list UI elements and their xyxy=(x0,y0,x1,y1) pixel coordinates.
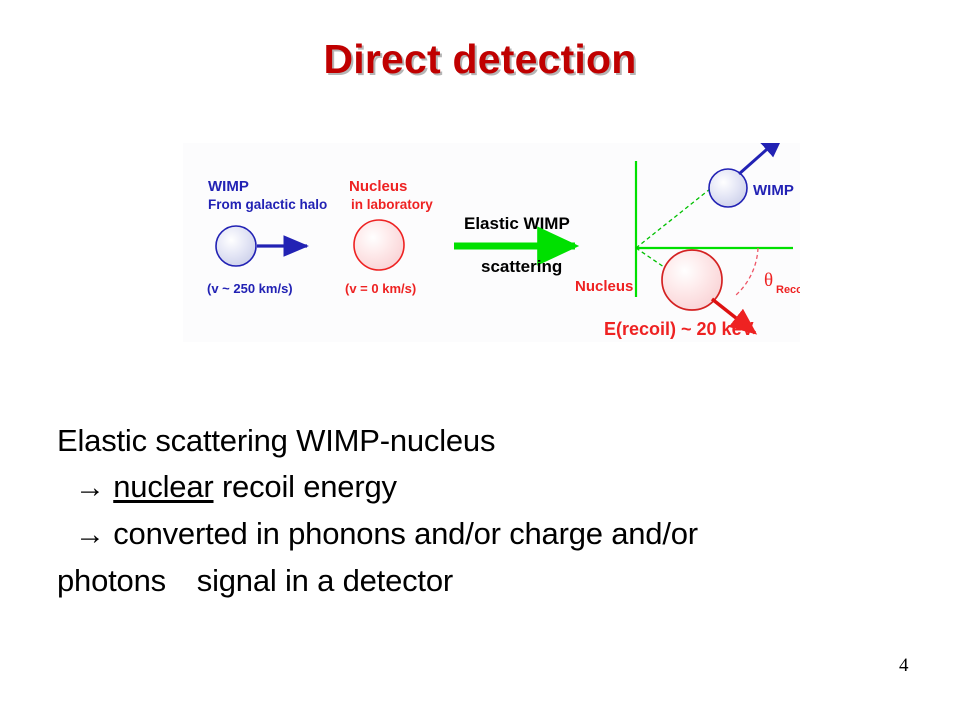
recoil-nucleus-label: Nucleus xyxy=(575,278,633,295)
figure-nucleus-velocity: (v = 0 km/s) xyxy=(345,281,416,296)
nucleus-particle-circle xyxy=(354,220,404,270)
direct-detection-figure: WIMP From galactic halo (v ~ 250 km/s) N… xyxy=(183,143,800,342)
figure-nucleus-subtitle: in laboratory xyxy=(351,197,433,212)
body-line-4-part-b: signal in a detector xyxy=(197,563,453,598)
page-number: 4 xyxy=(899,655,909,677)
body-line-3: → converted in phonons and/or charge and… xyxy=(57,511,917,558)
body-text-block: Elastic scattering WIMP-nucleus → nuclea… xyxy=(57,418,917,604)
guide-line-wimp xyxy=(636,185,715,248)
figure-wimp-subtitle: From galactic halo xyxy=(208,197,327,212)
body-line-2-underlined: nuclear xyxy=(113,469,213,504)
wimp-particle-circle xyxy=(216,226,256,266)
figure-wimp-velocity: (v ~ 250 km/s) xyxy=(207,281,293,296)
scattered-wimp-arrow xyxy=(739,143,783,174)
figure-nucleus-title: Nucleus xyxy=(349,178,407,195)
process-label-bottom: scattering xyxy=(481,257,562,276)
scattering-diagram-svg: WIMP From galactic halo (v ~ 250 km/s) N… xyxy=(183,143,800,342)
scattered-wimp-circle xyxy=(709,169,747,207)
recoil-energy-label: E(recoil) ~ 20 keV xyxy=(604,319,754,339)
theta-symbol: θ xyxy=(764,270,773,291)
recoil-angle-arc xyxy=(736,248,758,295)
body-line-1-text: Elastic scattering WIMP-nucleus xyxy=(57,423,495,458)
scattered-wimp-label: WIMP xyxy=(753,182,794,199)
figure-wimp-title: WIMP xyxy=(208,178,249,195)
page-title: Direct detection xyxy=(0,36,960,83)
body-line-2-rest: recoil energy xyxy=(222,469,397,504)
process-label-top: Elastic WIMP xyxy=(464,214,570,233)
body-line-4: photons signal in a detector xyxy=(57,558,917,604)
body-line-2: → nuclear recoil energy xyxy=(57,464,917,511)
arrow-glyph-1: → xyxy=(75,471,105,504)
arrow-glyph-2: → xyxy=(75,518,105,551)
slide-root: Direct detection xyxy=(0,0,960,720)
body-line-4-part-a: photons xyxy=(57,563,166,598)
body-line-3-text: converted in phonons and/or charge and/o… xyxy=(113,516,698,551)
theta-subscript-recoil: Recoil xyxy=(776,284,800,296)
body-line-1: Elastic scattering WIMP-nucleus xyxy=(57,418,917,464)
